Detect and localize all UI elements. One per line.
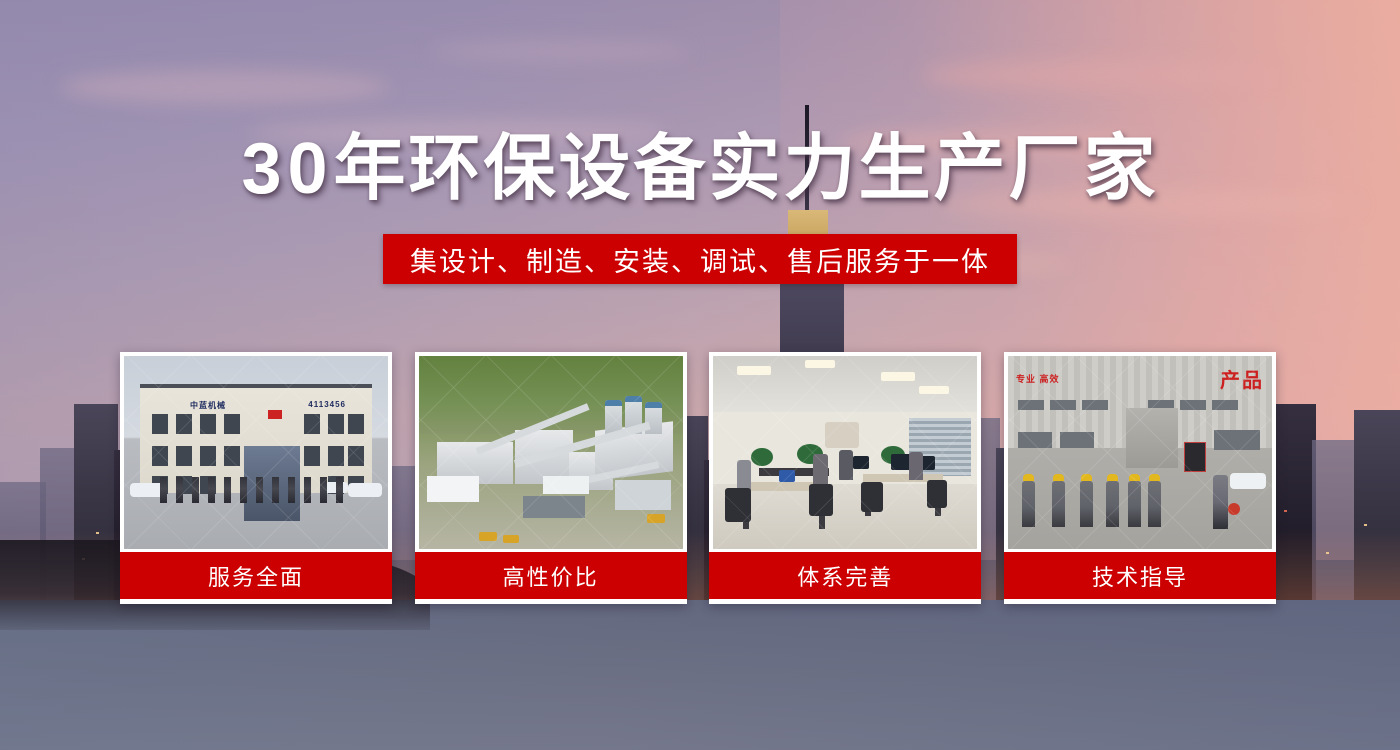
subtitle-banner: 集设计、制造、安装、调试、售后服务于一体 [383, 234, 1017, 284]
card-caption: 体系完善 [709, 552, 981, 599]
photo-worker-training: 产品 专业 高效 [1008, 356, 1272, 549]
card-caption: 技术指导 [1004, 552, 1276, 599]
feature-card[interactable]: 中蓝机械 4113456 [120, 352, 392, 604]
card-caption-text: 体系完善 [797, 560, 893, 592]
feature-card[interactable]: 产品 专业 高效 [1004, 352, 1276, 604]
cloud [60, 70, 390, 104]
card-caption: 高性价比 [415, 552, 687, 599]
feature-card-list: 中蓝机械 4113456 [120, 352, 1276, 604]
card-caption: 服务全面 [120, 552, 392, 599]
hero-banner: 30年环保设备实力生产厂家 集设计、制造、安装、调试、售后服务于一体 中蓝机械 … [0, 0, 1400, 750]
feature-card[interactable]: 高性价比 [415, 352, 687, 604]
photo-office-interior [713, 356, 977, 549]
card-caption-text: 高性价比 [503, 560, 599, 592]
cloud [920, 60, 1280, 90]
card-caption-text: 技术指导 [1092, 560, 1188, 592]
photo-production-base [419, 356, 683, 549]
headline-number: 30 [241, 129, 333, 209]
page-title: 30年环保设备实力生产厂家 [0, 133, 1400, 205]
feature-card[interactable]: 体系完善 [709, 352, 981, 604]
cloud [430, 40, 690, 62]
subtitle-text: 集设计、制造、安装、调试、售后服务于一体 [410, 240, 990, 279]
headline-text: 年环保设备实力生产厂家 [334, 129, 1159, 209]
photo-company-building: 中蓝机械 4113456 [124, 356, 388, 549]
card-caption-text: 服务全面 [208, 560, 304, 592]
